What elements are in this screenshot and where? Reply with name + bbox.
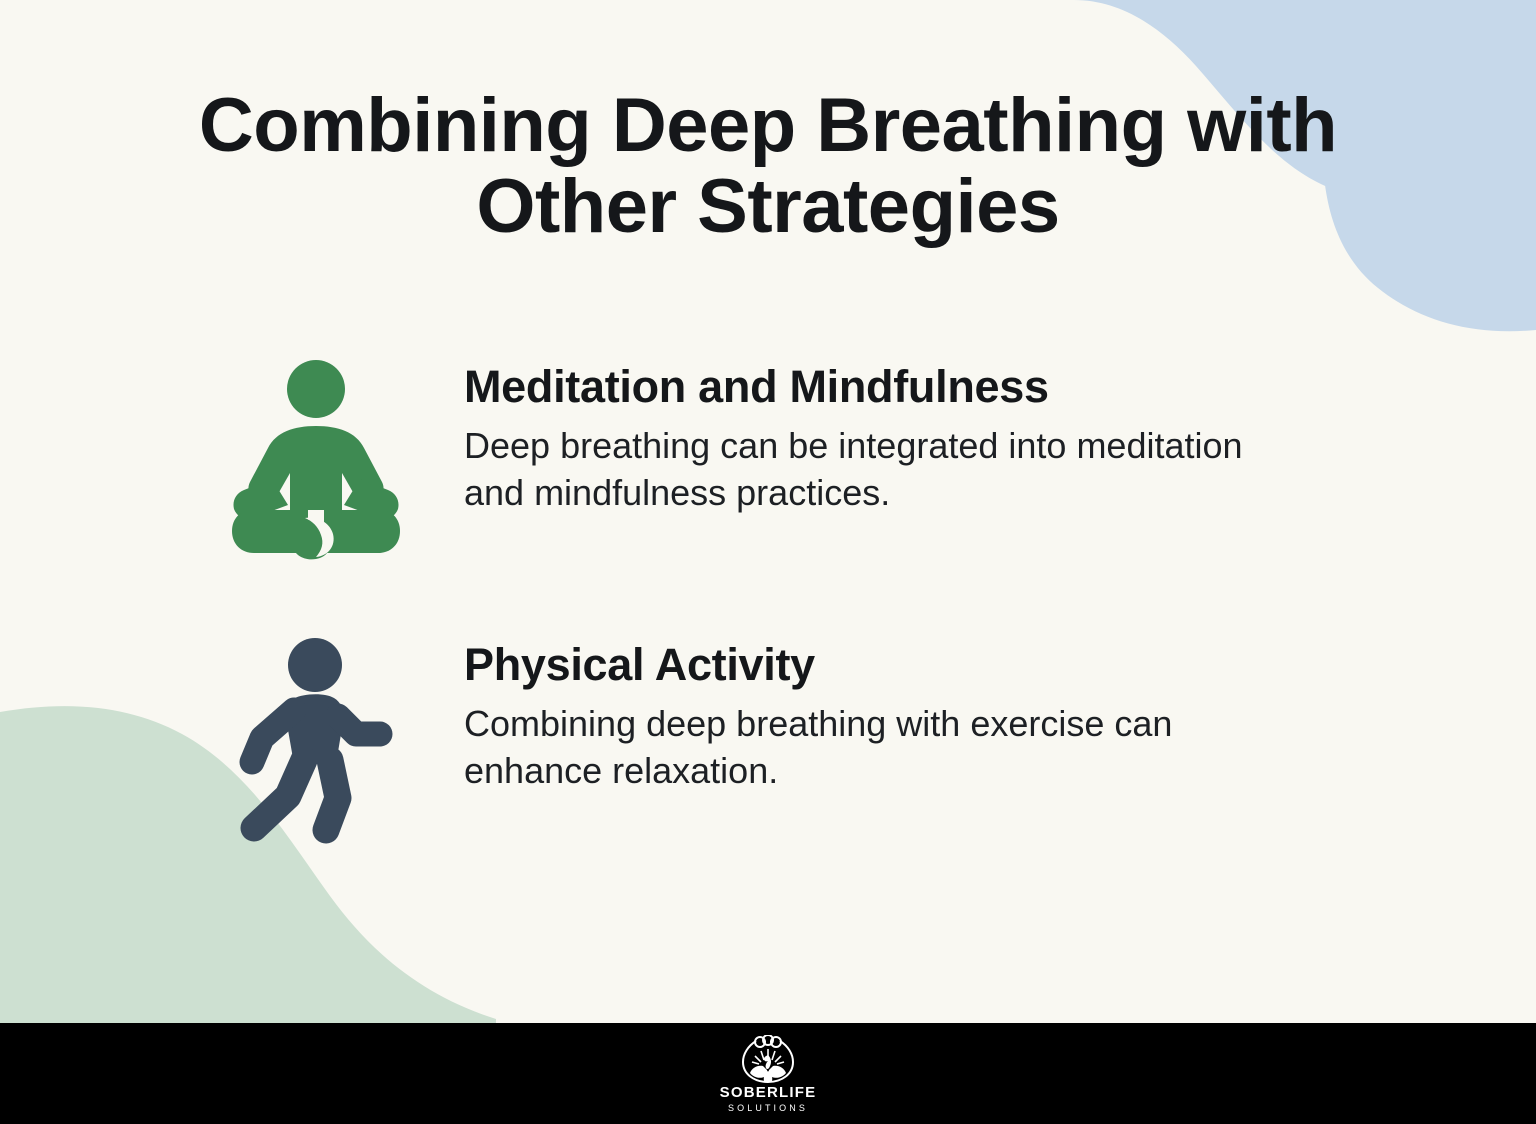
soberlife-lotus-sunrise-emblem bbox=[741, 1035, 795, 1083]
infographic-slide: Combining Deep Breathing with Other Stra… bbox=[0, 0, 1536, 1124]
item-title: Physical Activity bbox=[464, 640, 1352, 690]
walking-person-icon bbox=[232, 638, 394, 846]
text-cell: Meditation and Mindfulness Deep breathin… bbox=[464, 352, 1352, 517]
footer-tagline: SOLUTIONS bbox=[728, 1104, 808, 1113]
text-cell: Physical Activity Combining deep breathi… bbox=[464, 630, 1352, 795]
footer-brand-name: SOBERLIFE bbox=[720, 1085, 817, 1100]
page-title: Combining Deep Breathing with Other Stra… bbox=[123, 86, 1413, 247]
list-item: Meditation and Mindfulness Deep breathin… bbox=[232, 352, 1352, 566]
item-title: Meditation and Mindfulness bbox=[464, 362, 1352, 412]
meditation-lotus-icon bbox=[232, 360, 400, 566]
list-item: Physical Activity Combining deep breathi… bbox=[232, 630, 1352, 846]
item-description: Combining deep breathing with exercise c… bbox=[464, 700, 1294, 796]
icon-cell bbox=[232, 352, 464, 566]
footer-bar: SOBERLIFE SOLUTIONS bbox=[0, 1023, 1536, 1124]
strategy-list: Meditation and Mindfulness Deep breathin… bbox=[232, 352, 1352, 846]
title-container: Combining Deep Breathing with Other Stra… bbox=[0, 86, 1536, 247]
item-description: Deep breathing can be integrated into me… bbox=[464, 422, 1294, 518]
icon-cell bbox=[232, 630, 464, 846]
